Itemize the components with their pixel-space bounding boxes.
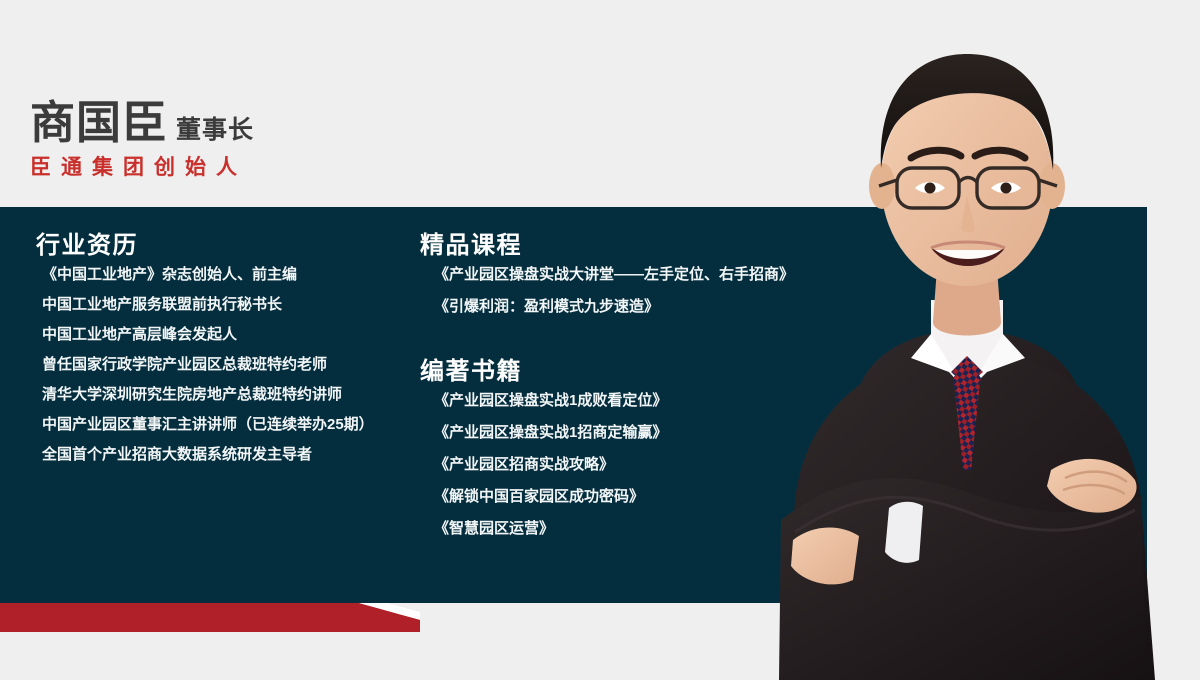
list-item: 清华大学深圳研究生院房地产总裁班特约讲师 bbox=[36, 387, 416, 402]
list-item: 中国工业地产高层峰会发起人 bbox=[36, 327, 416, 342]
experience-list: 《中国工业地产》杂志创始人、前主编 中国工业地产服务联盟前执行秘书长 中国工业地… bbox=[36, 267, 416, 462]
list-item: 全国首个产业招商大数据系统研发主导者 bbox=[36, 447, 416, 462]
column-experience: 行业资历 《中国工业地产》杂志创始人、前主编 中国工业地产服务联盟前执行秘书长 … bbox=[36, 232, 416, 477]
list-item: 《解锁中国百家园区成功密码》 bbox=[420, 489, 850, 504]
person-title: 董事长 bbox=[176, 118, 254, 143]
courses-list: 《产业园区操盘实战大讲堂——左手定位、右手招商》 《引爆利润：盈利模式九步速造》 bbox=[420, 267, 850, 314]
list-item: 中国工业地产服务联盟前执行秘书长 bbox=[36, 297, 416, 312]
list-item: 中国产业园区董事汇主讲讲师（已连续举办25期） bbox=[36, 417, 416, 432]
books-list: 《产业园区操盘实战1成败看定位》 《产业园区操盘实战1招商定输赢》 《产业园区招… bbox=[420, 393, 850, 536]
person-name: 商国臣 bbox=[30, 100, 168, 145]
name-block: 商国臣 董事长 臣通集团创始人 bbox=[30, 100, 254, 178]
section-heading-experience: 行业资历 bbox=[36, 232, 416, 261]
list-item: 《产业园区招商实战攻略》 bbox=[420, 457, 850, 472]
column-courses-books: 精品课程 《产业园区操盘实战大讲堂——左手定位、右手招商》 《引爆利润：盈利模式… bbox=[420, 232, 850, 553]
list-item: 《引爆利润：盈利模式九步速造》 bbox=[420, 299, 850, 314]
list-item: 《中国工业地产》杂志创始人、前主编 bbox=[36, 267, 416, 282]
list-item: 曾任国家行政学院产业园区总裁班特约老师 bbox=[36, 357, 416, 372]
person-subtitle: 臣通集团创始人 bbox=[30, 157, 254, 178]
section-heading-courses: 精品课程 bbox=[420, 232, 850, 261]
list-item: 《智慧园区运营》 bbox=[420, 521, 850, 536]
name-row: 商国臣 董事长 bbox=[30, 100, 254, 145]
profile-banner: 商国臣 董事长 臣通集团创始人 行业资历 《中国工业地产》杂志创始人、前主编 中… bbox=[0, 0, 1200, 680]
section-heading-books: 编著书籍 bbox=[420, 358, 850, 387]
list-item: 《产业园区操盘实战大讲堂——左手定位、右手招商》 bbox=[420, 267, 850, 282]
list-item: 《产业园区操盘实战1成败看定位》 bbox=[420, 393, 850, 408]
list-item: 《产业园区操盘实战1招商定输赢》 bbox=[420, 425, 850, 440]
